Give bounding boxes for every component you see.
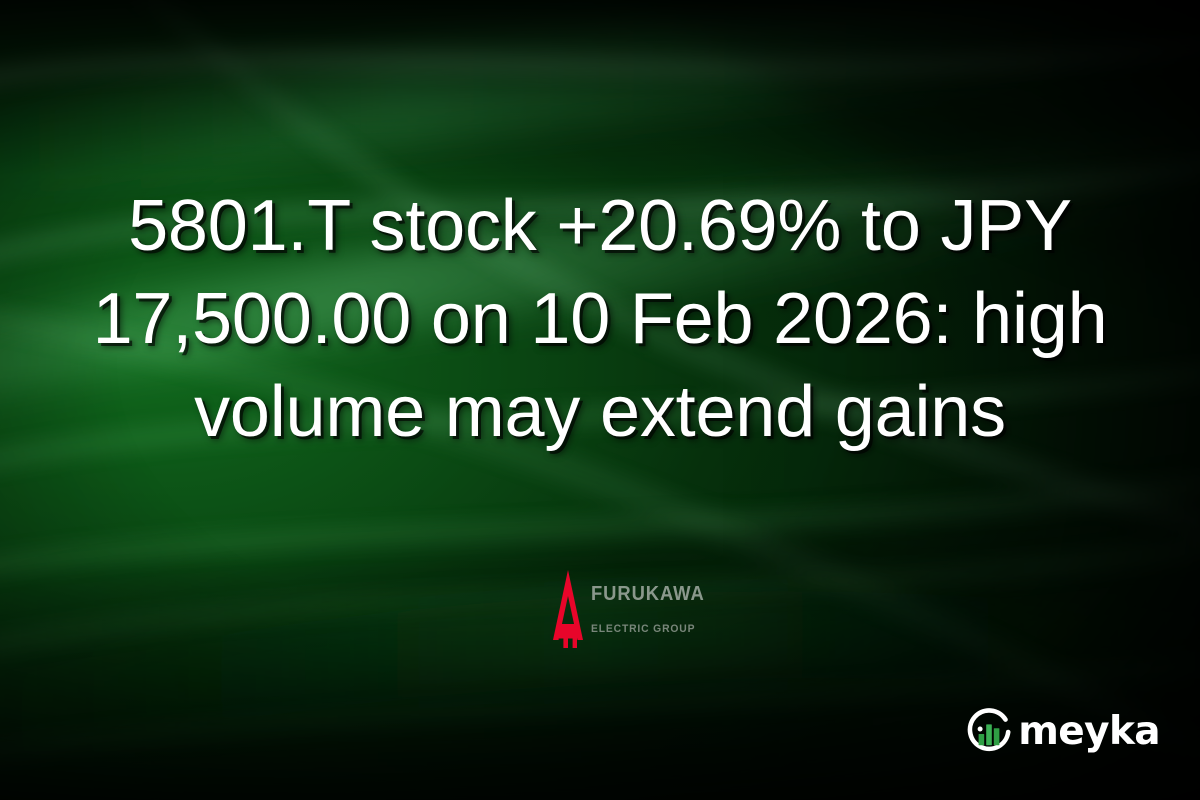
furukawa-arrow-mark-icon	[548, 568, 588, 650]
company-logo-text: FURUKAWA ELECTRIC GROUP	[591, 567, 715, 651]
page-title: 5801.T stock +20.69% to JPY 17,500.00 on…	[60, 180, 1140, 459]
company-subtitle: ELECTRIC GROUP	[591, 623, 707, 636]
brand-name: meyka	[1018, 712, 1160, 753]
company-name: FURUKAWA	[591, 584, 705, 605]
social-card: 5801.T stock +20.69% to JPY 17,500.00 on…	[0, 0, 1200, 800]
company-logo: FURUKAWA ELECTRIC GROUP	[548, 558, 666, 660]
headline-container: 5801.T stock +20.69% to JPY 17,500.00 on…	[0, 132, 1200, 507]
meyka-chart-ring-icon	[965, 708, 1013, 756]
brand-logo: meyka	[965, 708, 1160, 756]
